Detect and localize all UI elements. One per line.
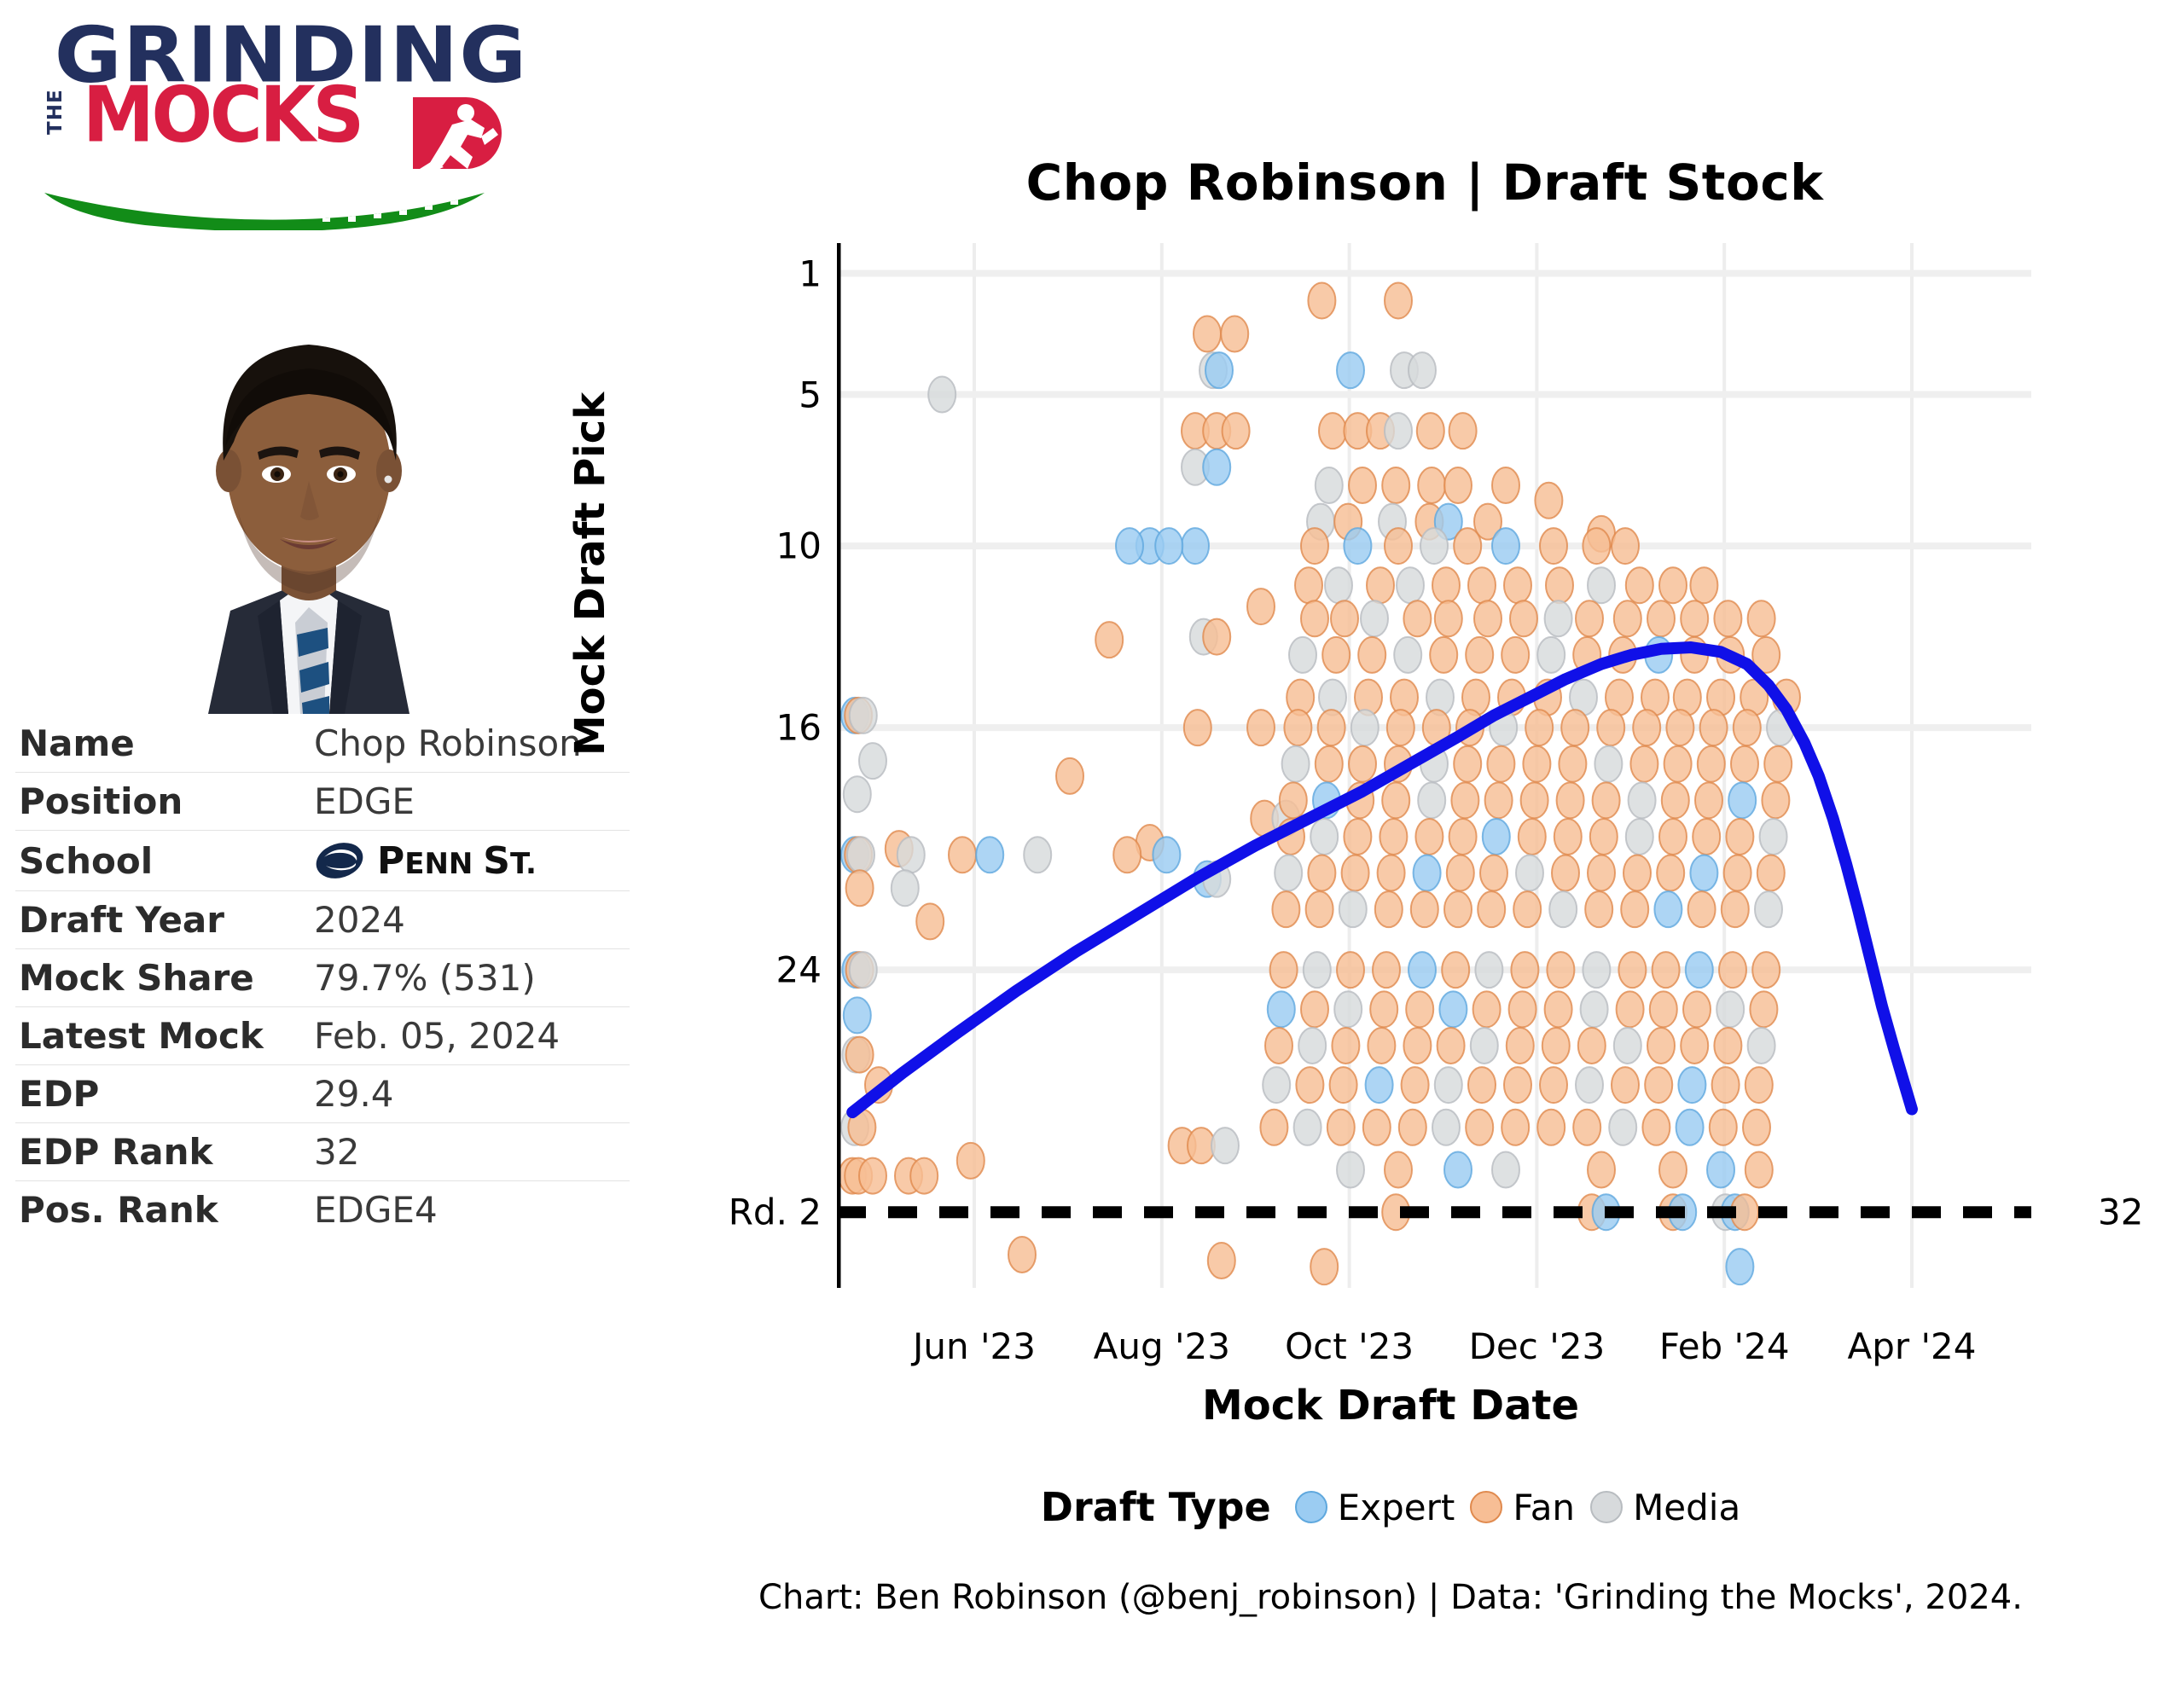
scatter-point xyxy=(1466,637,1493,673)
scatter-point xyxy=(1378,855,1405,891)
scatter-point xyxy=(1597,710,1624,745)
scatter-point xyxy=(1507,1028,1534,1064)
scatter-point xyxy=(1420,528,1448,564)
scatter-point xyxy=(1268,991,1295,1027)
scatter-point xyxy=(1409,352,1436,388)
scatter-point xyxy=(1247,589,1275,624)
scatter-point xyxy=(1366,1067,1393,1103)
scatter-point xyxy=(1319,413,1346,449)
school-name-text: PENN ST. xyxy=(377,839,537,883)
scatter-point xyxy=(1387,710,1414,745)
scatter-point xyxy=(1263,1067,1290,1103)
scatter-point xyxy=(1693,819,1720,855)
grinding-the-mocks-logo: GRINDING THE MOCKS xyxy=(26,9,520,222)
scatter-point xyxy=(1385,1152,1412,1188)
y-tick-label-16: 16 xyxy=(776,707,822,749)
scatter-point xyxy=(1690,567,1717,603)
scatter-point xyxy=(1588,567,1615,603)
scatter-point xyxy=(1750,991,1777,1027)
scatter-point xyxy=(1700,710,1728,745)
scatter-point xyxy=(1468,1067,1496,1103)
x-tick-label-0: Jun '23 xyxy=(913,1325,1036,1367)
legend-item-expert[interactable]: Expert xyxy=(1295,1487,1455,1528)
table-row-school: School PENN ST. xyxy=(15,831,630,891)
legend-label-media: Media xyxy=(1633,1487,1740,1528)
scatter-point xyxy=(928,377,955,413)
scatter-point xyxy=(1519,819,1546,855)
scatter-point xyxy=(1113,837,1141,873)
scatter-point xyxy=(1657,855,1684,891)
row-value-edp-rank: 32 xyxy=(311,1123,630,1181)
scatter-point xyxy=(1712,1067,1740,1103)
scatter-point xyxy=(1304,952,1331,988)
scatter-point xyxy=(1681,1028,1708,1064)
scatter-point xyxy=(916,903,944,939)
scatter-point xyxy=(1339,891,1367,927)
player-info-table: Name Chop Robinson Position EDGE School xyxy=(15,715,630,1238)
scatter-point xyxy=(1056,758,1083,794)
scatter-point xyxy=(1504,567,1531,603)
scatter-point xyxy=(1475,952,1502,988)
legend-label-fan: Fan xyxy=(1513,1487,1575,1528)
row-label-name: Name xyxy=(15,715,311,773)
scatter-point xyxy=(1626,567,1653,603)
scatter-point xyxy=(1710,1110,1737,1145)
scatter-point xyxy=(1399,1110,1426,1145)
scatter-point xyxy=(1316,746,1343,782)
scatter-point xyxy=(976,837,1003,873)
scatter-point xyxy=(1382,467,1409,503)
scatter-point xyxy=(1024,837,1051,873)
legend-label-expert: Expert xyxy=(1338,1487,1455,1528)
scatter-point xyxy=(1480,855,1507,891)
scatter-point xyxy=(1301,991,1328,1027)
scatter-point xyxy=(1363,1110,1391,1145)
scatter-point xyxy=(1310,1249,1338,1284)
scatter-point xyxy=(1681,600,1708,636)
scatter-point xyxy=(1373,952,1400,988)
scatter-point xyxy=(1008,1237,1036,1273)
scatter-point xyxy=(1748,600,1775,636)
scatter-point xyxy=(1155,528,1182,564)
scatter-point xyxy=(1714,1028,1741,1064)
chart-legend: Draft Type Expert Fan Media xyxy=(665,1484,2116,1530)
scatter-point xyxy=(1535,483,1562,519)
y-tick-label-1: 1 xyxy=(799,252,822,294)
scatter-point xyxy=(1368,1028,1395,1064)
headshot-svg xyxy=(130,266,488,714)
scatter-point xyxy=(1594,746,1622,782)
scatter-point xyxy=(1454,746,1481,782)
reference-line-label-right: 32 xyxy=(2098,1192,2143,1233)
scatter-point xyxy=(1583,528,1610,564)
scatter-point xyxy=(1301,528,1328,564)
scatter-point xyxy=(1629,782,1656,818)
scatter-point xyxy=(1203,619,1230,655)
scatter-point xyxy=(1116,528,1143,564)
scatter-point xyxy=(1444,891,1472,927)
scatter-point xyxy=(1375,891,1403,927)
scatter-point xyxy=(1385,282,1412,318)
scatter-point xyxy=(1642,1110,1670,1145)
scatter-point xyxy=(1743,1110,1770,1145)
scatter-point xyxy=(1394,637,1421,673)
scatter-point xyxy=(1755,891,1782,927)
scatter-point xyxy=(1208,1243,1235,1279)
logo-svg: GRINDING THE MOCKS xyxy=(26,9,520,230)
scatter-point xyxy=(1542,1028,1570,1064)
row-label-mock-share: Mock Share xyxy=(15,949,311,1007)
scatter-point xyxy=(1513,891,1541,927)
scatter-plot-svg xyxy=(837,243,2031,1288)
draft-stock-chart: Chop Robinson | Draft Stock Mock Draft P… xyxy=(665,51,2184,1699)
scatter-point xyxy=(1650,991,1677,1027)
scatter-point xyxy=(1418,467,1445,503)
chart-credit: Chart: Ben Robinson (@benj_robinson) | D… xyxy=(665,1578,2116,1617)
scatter-point xyxy=(1417,413,1444,449)
scatter-point xyxy=(1344,819,1371,855)
scatter-point xyxy=(1731,746,1758,782)
scatter-point xyxy=(1337,1152,1364,1188)
scatter-point xyxy=(1487,746,1514,782)
scatter-point xyxy=(1662,782,1689,818)
scatter-point xyxy=(1633,710,1660,745)
scatter-point xyxy=(1612,528,1639,564)
scatter-point xyxy=(1621,891,1648,927)
scatter-point xyxy=(1454,528,1481,564)
scatter-point xyxy=(1182,528,1209,564)
y-tick-label-24: 24 xyxy=(776,949,822,991)
scatter-point xyxy=(1659,567,1687,603)
scatter-point xyxy=(1707,1152,1734,1188)
scatter-point xyxy=(850,952,877,988)
scatter-point xyxy=(1310,819,1338,855)
scatter-point xyxy=(1686,952,1713,988)
scatter-point xyxy=(1438,1028,1465,1064)
scatter-point xyxy=(1385,413,1412,449)
scatter-point xyxy=(1367,567,1394,603)
table-row-position: Position EDGE xyxy=(15,773,630,831)
scatter-point xyxy=(1545,600,1572,636)
scatter-point xyxy=(1402,1067,1429,1103)
scatter-point xyxy=(1752,952,1780,988)
table-row-name: Name Chop Robinson xyxy=(15,715,630,773)
scatter-point xyxy=(1590,819,1618,855)
scatter-point xyxy=(1764,746,1792,782)
scatter-point xyxy=(1501,637,1529,673)
scatter-point xyxy=(1683,991,1711,1027)
x-tick-label-1: Aug '23 xyxy=(1094,1325,1230,1367)
scatter-point xyxy=(1645,1067,1672,1103)
scatter-point xyxy=(1561,710,1589,745)
scatter-point xyxy=(1547,952,1574,988)
scatter-point xyxy=(1678,1067,1705,1103)
scatter-point xyxy=(1588,855,1615,891)
scatter-point xyxy=(1203,449,1230,485)
scatter-point xyxy=(1221,316,1248,352)
scatter-point xyxy=(1492,528,1519,564)
svg-text:THE: THE xyxy=(44,89,67,135)
scatter-point xyxy=(1478,891,1505,927)
scatter-point xyxy=(1554,819,1582,855)
x-tick-label-3: Dec '23 xyxy=(1469,1325,1606,1367)
scatter-point xyxy=(859,743,886,779)
scatter-point xyxy=(1444,467,1472,503)
scatter-point xyxy=(1557,782,1584,818)
scatter-point xyxy=(1380,819,1407,855)
scatter-point xyxy=(1609,1110,1636,1145)
scatter-point xyxy=(1626,819,1653,855)
legend-dot-fan xyxy=(1470,1491,1502,1523)
scatter-point xyxy=(1442,952,1469,988)
scatter-point xyxy=(1247,710,1275,745)
scatter-point xyxy=(1540,528,1567,564)
scatter-point xyxy=(1451,782,1478,818)
scatter-point xyxy=(1270,952,1298,988)
scatter-point xyxy=(1745,1067,1773,1103)
scatter-point xyxy=(1757,855,1785,891)
legend-item-fan[interactable]: Fan xyxy=(1470,1487,1575,1528)
scatter-point xyxy=(1358,637,1385,673)
scatter-point xyxy=(1223,413,1250,449)
scatter-point xyxy=(846,870,874,906)
scatter-point xyxy=(1184,710,1211,745)
scatter-point xyxy=(1322,637,1350,673)
scatter-point xyxy=(1509,991,1536,1027)
scatter-point xyxy=(844,997,871,1033)
scatter-point xyxy=(1559,746,1586,782)
scatter-point xyxy=(1614,600,1641,636)
scatter-point xyxy=(1537,637,1565,673)
table-row-mock-share: Mock Share 79.7% (531) xyxy=(15,949,630,1007)
table-row-edp: EDP 29.4 xyxy=(15,1065,630,1123)
scatter-point xyxy=(1473,991,1501,1027)
scatter-point xyxy=(1337,952,1364,988)
scatter-point xyxy=(1576,600,1603,636)
scatter-point xyxy=(1449,413,1477,449)
scatter-point xyxy=(1545,991,1572,1027)
scatter-point xyxy=(859,1158,886,1194)
scatter-point xyxy=(1294,1110,1321,1145)
player-headshot xyxy=(130,266,488,714)
scatter-point xyxy=(1415,819,1443,855)
scatter-point xyxy=(1406,991,1433,1027)
scatter-point xyxy=(1349,467,1376,503)
scatter-point xyxy=(1280,782,1307,818)
scatter-point xyxy=(1382,782,1409,818)
scatter-point xyxy=(1726,819,1753,855)
x-tick-label-2: Oct '23 xyxy=(1285,1325,1414,1367)
scatter-point xyxy=(1361,600,1388,636)
scatter-point xyxy=(1664,746,1692,782)
scatter-point xyxy=(1295,567,1322,603)
scatter-point xyxy=(1659,1152,1687,1188)
scatter-point xyxy=(1474,600,1501,636)
reference-line-label-left: Rd. 2 xyxy=(729,1192,822,1233)
scatter-point xyxy=(1468,567,1496,603)
scatter-point xyxy=(1418,782,1445,818)
scatter-point xyxy=(1552,855,1579,891)
scatter-point xyxy=(1623,855,1651,891)
scatter-point xyxy=(957,1143,985,1179)
scatter-point xyxy=(1501,1110,1529,1145)
scatter-point xyxy=(1537,1110,1565,1145)
scatter-point xyxy=(1435,600,1462,636)
scatter-point xyxy=(1296,1067,1323,1103)
scatter-point xyxy=(1614,1028,1641,1064)
scatter-point xyxy=(1308,855,1335,891)
scatter-point xyxy=(1585,891,1612,927)
scatter-point xyxy=(1659,819,1687,855)
scatter-point xyxy=(1282,746,1310,782)
scatter-point xyxy=(1719,952,1746,988)
scatter-point xyxy=(1617,991,1644,1027)
legend-item-media[interactable]: Media xyxy=(1590,1487,1740,1528)
scatter-point xyxy=(1397,567,1424,603)
scatter-point xyxy=(1714,600,1741,636)
scatter-point xyxy=(1492,467,1519,503)
scatter-point xyxy=(1647,600,1675,636)
scatter-point xyxy=(1275,855,1302,891)
row-label-pos-rank: Pos. Rank xyxy=(15,1181,311,1239)
scatter-point xyxy=(1414,855,1441,891)
scatter-point xyxy=(1654,891,1682,927)
scatter-point xyxy=(1265,1028,1292,1064)
scatter-point xyxy=(1444,1152,1472,1188)
scatter-point xyxy=(1726,1249,1753,1284)
scatter-point xyxy=(1516,855,1543,891)
scatter-point xyxy=(892,870,919,906)
scatter-point xyxy=(1351,710,1379,745)
scatter-point xyxy=(1447,855,1474,891)
scatter-point xyxy=(1485,782,1513,818)
scatter-point xyxy=(1435,1067,1462,1103)
scatter-point xyxy=(1289,637,1316,673)
scatter-point xyxy=(1095,622,1123,658)
scatter-point xyxy=(1327,1110,1355,1145)
scatter-point xyxy=(1630,746,1658,782)
table-row-draft-year: Draft Year 2024 xyxy=(15,891,630,949)
scatter-point xyxy=(1334,991,1362,1027)
scatter-point xyxy=(897,837,925,873)
scatter-point xyxy=(1618,952,1646,988)
scatter-point xyxy=(1745,1152,1773,1188)
scatter-point xyxy=(949,837,976,873)
scatter-point xyxy=(1432,1110,1460,1145)
scatter-point xyxy=(1540,1067,1567,1103)
scatter-point xyxy=(1331,600,1358,636)
scatter-point xyxy=(1337,352,1364,388)
scatter-point xyxy=(1521,782,1548,818)
scatter-point xyxy=(1546,567,1573,603)
legend-title: Draft Type xyxy=(1041,1484,1271,1530)
table-row-pos-rank: Pos. Rank EDGE4 xyxy=(15,1181,630,1239)
scatter-point xyxy=(1308,282,1335,318)
scatter-point xyxy=(1510,600,1537,636)
scatter-point xyxy=(850,698,877,734)
scatter-point xyxy=(1301,600,1328,636)
scatter-point xyxy=(1666,710,1693,745)
logo-field-swoosh xyxy=(44,189,485,230)
scatter-point xyxy=(1430,637,1457,673)
scatter-point xyxy=(1194,316,1221,352)
scatter-point xyxy=(1449,819,1477,855)
chart-title: Chop Robinson | Draft Stock xyxy=(665,154,2184,212)
scatter-point xyxy=(1583,952,1610,988)
scatter-point xyxy=(1385,528,1412,564)
scatter-point xyxy=(1403,1028,1431,1064)
scatter-point xyxy=(1748,1028,1775,1064)
scatter-point xyxy=(1734,710,1761,745)
scatter-point xyxy=(1576,1067,1603,1103)
scatter-point xyxy=(1306,891,1333,927)
y-tick-label-5: 5 xyxy=(799,374,822,415)
scatter-point xyxy=(1523,746,1550,782)
scatter-point xyxy=(1205,352,1233,388)
penn-state-nittany-lion-logo xyxy=(314,838,365,883)
scatter-point xyxy=(1272,891,1299,927)
scatter-point xyxy=(1676,1110,1704,1145)
scatter-point xyxy=(1471,1028,1498,1064)
scatter-point xyxy=(1549,891,1577,927)
scatter-point xyxy=(1260,1110,1287,1145)
x-axis-label: Mock Draft Date xyxy=(665,1382,2116,1429)
scatter-point xyxy=(1698,746,1725,782)
scatter-point xyxy=(1647,1028,1675,1064)
plot-area: 15101624Jun '23Aug '23Oct '23Dec '23Feb … xyxy=(837,243,2031,1288)
y-tick-label-10: 10 xyxy=(776,525,822,567)
y-axis-label: Mock Draft Pick xyxy=(565,51,616,1096)
row-label-school: School xyxy=(15,831,311,891)
table-row-edp-rank: EDP Rank 32 xyxy=(15,1123,630,1181)
scatter-point xyxy=(1342,855,1369,891)
scatter-point xyxy=(1588,1152,1615,1188)
scatter-point xyxy=(1316,467,1343,503)
scatter-point xyxy=(1724,855,1751,891)
scatter-point xyxy=(1762,782,1789,818)
scatter-point xyxy=(1284,710,1311,745)
scatter-point xyxy=(1344,528,1371,564)
x-tick-label-4: Feb '24 xyxy=(1659,1325,1790,1367)
scatter-point xyxy=(1492,1152,1519,1188)
scatter-point xyxy=(1439,991,1467,1027)
scatter-point xyxy=(846,1037,874,1073)
scatter-point xyxy=(1211,1128,1239,1163)
scatter-point xyxy=(1525,710,1553,745)
scatter-point xyxy=(847,837,874,873)
scatter-point xyxy=(1728,782,1756,818)
scatter-point xyxy=(1573,1110,1600,1145)
scatter-point xyxy=(1760,819,1787,855)
scatter-point xyxy=(1483,819,1510,855)
scatter-point xyxy=(1318,710,1345,745)
scatter-point xyxy=(844,776,871,812)
scatter-point xyxy=(1403,600,1431,636)
scatter-point xyxy=(1722,891,1749,927)
scatter-point xyxy=(1411,891,1438,927)
row-label-edp: EDP xyxy=(15,1065,311,1123)
scatter-point xyxy=(1688,891,1716,927)
row-label-edp-rank: EDP Rank xyxy=(15,1123,311,1181)
scatter-point xyxy=(1325,567,1352,603)
legend-dot-expert xyxy=(1295,1491,1327,1523)
scatter-point xyxy=(1432,567,1460,603)
scatter-point xyxy=(1504,1067,1531,1103)
scatter-point xyxy=(1612,1067,1639,1103)
row-label-latest-mock: Latest Mock xyxy=(15,1007,311,1065)
scatter-point xyxy=(1690,855,1717,891)
logo-word-mocks: MOCKS xyxy=(83,70,362,160)
